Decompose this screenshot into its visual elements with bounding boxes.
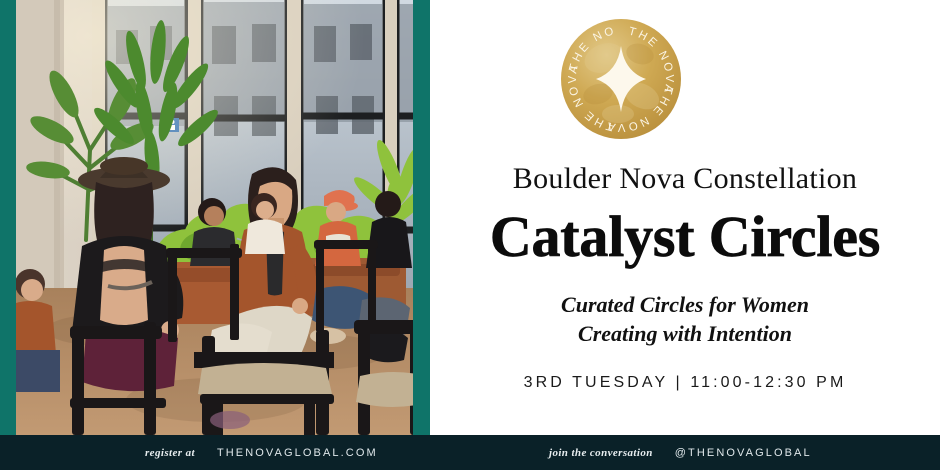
footer-social-label: join the conversation [549, 447, 653, 459]
teal-accent-rail-left [0, 0, 16, 435]
event-title: Catalyst Circles [430, 207, 940, 268]
teal-accent-rail-right [413, 0, 430, 435]
nova-logo-icon: THE NOVA THE NOVA THE NOVA THE NOVA [560, 18, 682, 140]
nova-logo-badge: THE NOVA THE NOVA THE NOVA THE NOVA [560, 18, 682, 140]
event-eyebrow: Boulder Nova Constellation [430, 163, 940, 195]
event-subtitle-line-2: Creating with Intention [430, 319, 940, 348]
event-schedule: 3RD TUESDAY | 11:00-12:30 PM [430, 374, 940, 392]
event-photo-illustration [16, 0, 413, 435]
footer-social-handle[interactable]: @THENOVAGLOBAL [675, 447, 812, 459]
footer-register-group: register at THENOVAGLOBAL.COM [145, 435, 378, 470]
event-subtitle-line-1: Curated Circles for Women [430, 290, 940, 319]
footer-social-group: join the conversation @THENOVAGLOBAL [549, 435, 812, 470]
footer-register-label: register at [145, 447, 195, 459]
event-subtitle: Curated Circles for Women Creating with … [430, 290, 940, 349]
footer-register-url[interactable]: THENOVAGLOBAL.COM [217, 447, 378, 459]
footer-bar: register at THENOVAGLOBAL.COM join the c… [0, 435, 940, 470]
content-panel: THE NOVA THE NOVA THE NOVA THE NOVA Boul… [430, 0, 940, 435]
event-photo [16, 0, 413, 435]
event-banner: THE NOVA THE NOVA THE NOVA THE NOVA Boul… [0, 0, 940, 470]
